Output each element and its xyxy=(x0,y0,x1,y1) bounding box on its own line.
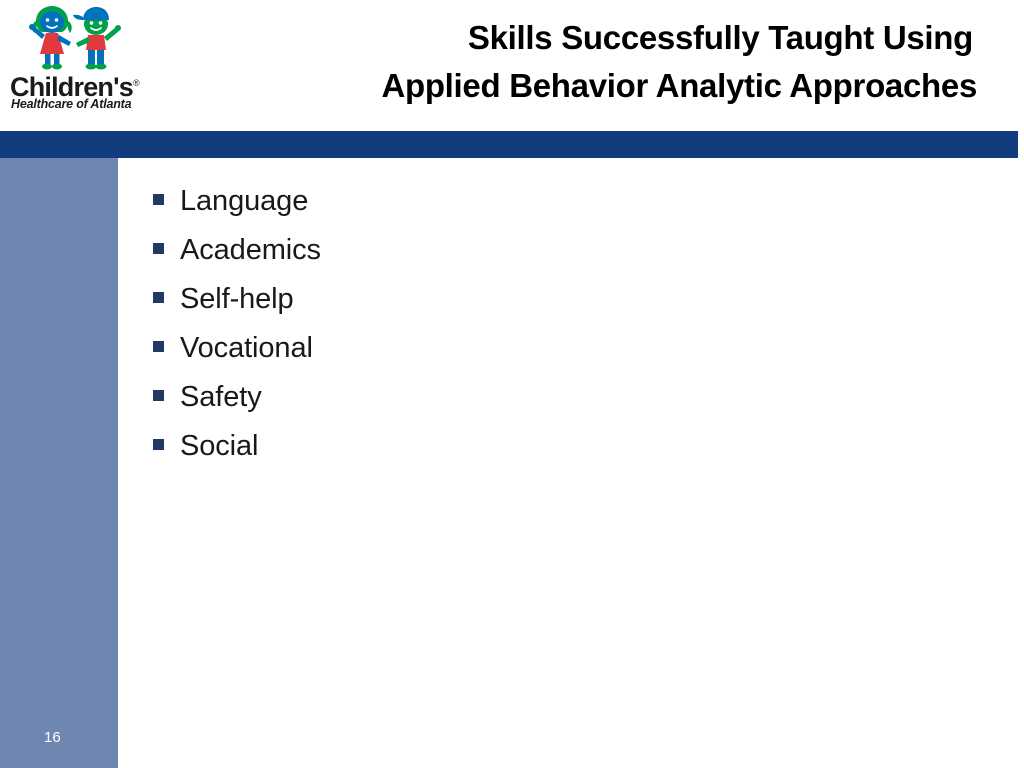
two-children-icon xyxy=(26,4,126,70)
list-item-label: Self-help xyxy=(180,275,294,324)
organization-logo: Children's® Healthcare of Atlanta xyxy=(8,4,140,114)
list-item: Social xyxy=(153,422,953,471)
list-item-label: Academics xyxy=(180,226,321,275)
left-sidebar: 16 xyxy=(0,158,118,768)
square-bullet-icon xyxy=(153,243,164,254)
logo-tagline: Healthcare of Atlanta xyxy=(11,98,141,111)
list-item: Language xyxy=(153,177,953,226)
logo-wordmark: Children's® Healthcare of Atlanta xyxy=(10,70,140,114)
bullet-list: Language Academics Self-help Vocational … xyxy=(153,177,953,471)
square-bullet-icon xyxy=(153,341,164,352)
slide-header: Children's® Healthcare of Atlanta Skills… xyxy=(0,0,1024,131)
list-item-label: Vocational xyxy=(180,324,313,373)
square-bullet-icon xyxy=(153,292,164,303)
title-line-1: Skills Successfully Taught Using xyxy=(150,14,995,62)
list-item-label: Safety xyxy=(180,373,262,422)
slide-content: Language Academics Self-help Vocational … xyxy=(118,158,1024,768)
square-bullet-icon xyxy=(153,194,164,205)
title-line-2: Applied Behavior Analytic Approaches xyxy=(150,62,995,110)
square-bullet-icon xyxy=(153,439,164,450)
list-item: Academics xyxy=(153,226,953,275)
list-item-label: Language xyxy=(180,177,308,226)
slide-canvas: Children's® Healthcare of Atlanta Skills… xyxy=(0,0,1024,768)
registered-trademark-icon: ® xyxy=(133,78,139,88)
page-number: 16 xyxy=(44,730,61,746)
list-item: Safety xyxy=(153,373,953,422)
header-accent-band xyxy=(0,131,1018,158)
square-bullet-icon xyxy=(153,390,164,401)
slide-title: Skills Successfully Taught Using Applied… xyxy=(150,14,995,110)
list-item: Vocational xyxy=(153,324,953,373)
list-item-label: Social xyxy=(180,422,258,471)
list-item: Self-help xyxy=(153,275,953,324)
